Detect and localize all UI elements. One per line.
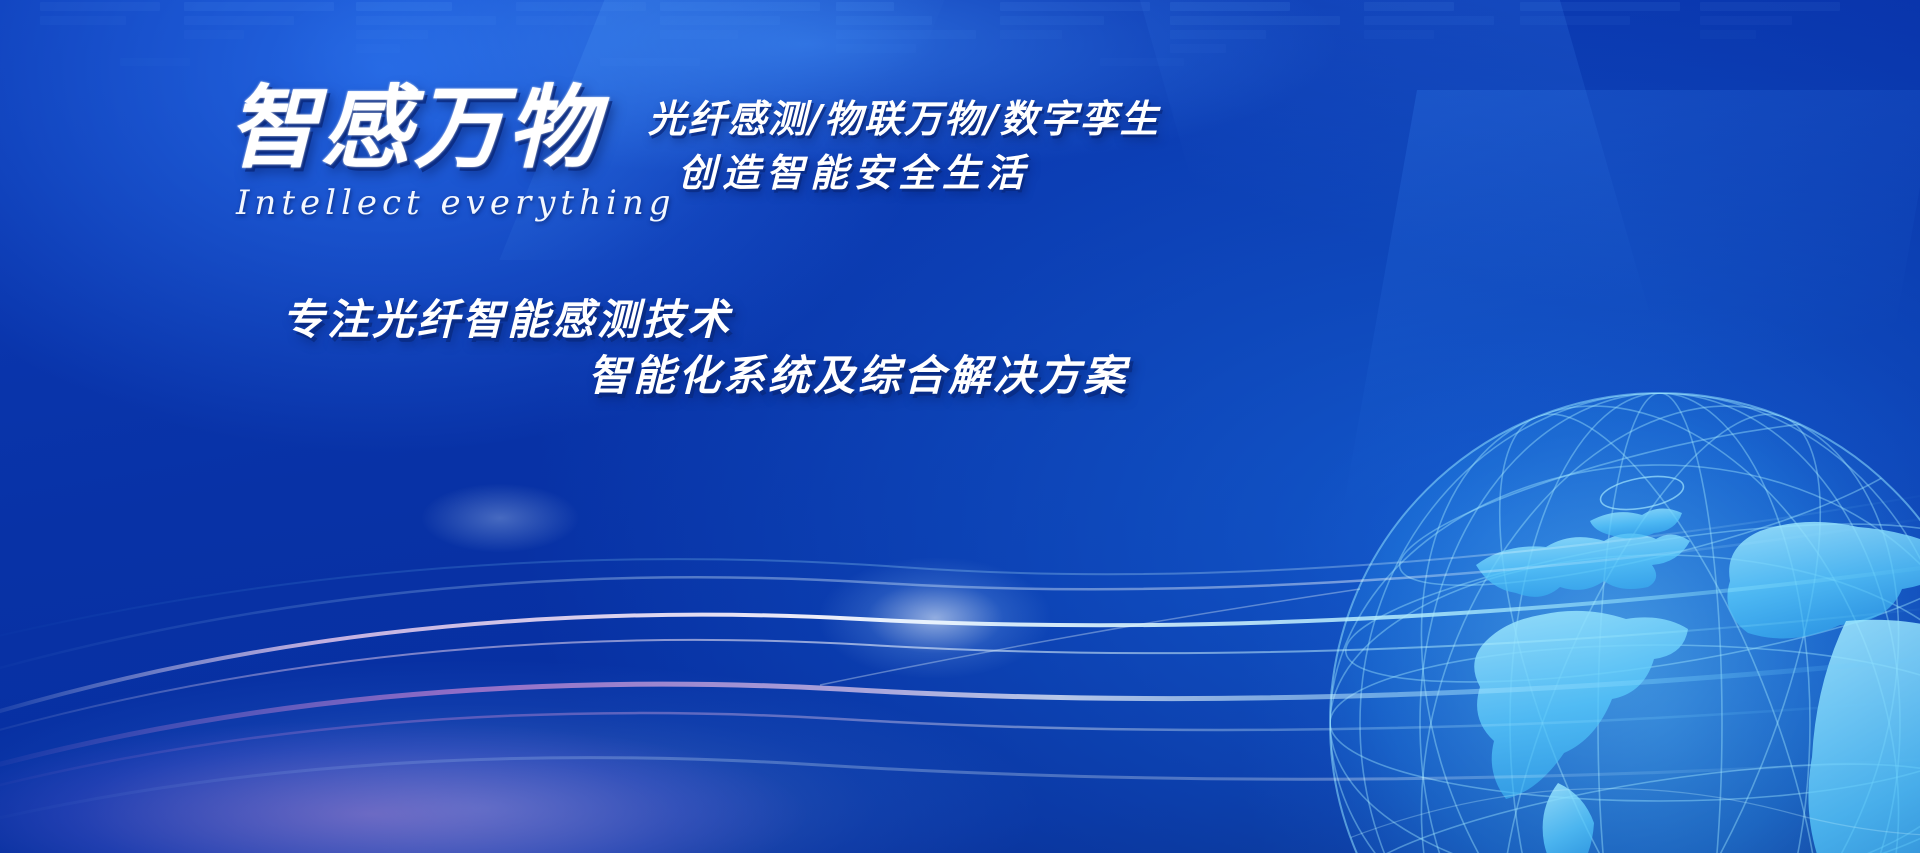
slogan-line-2: 创造智能安全生活 [678,142,1030,197]
slogan-line-1: 光纤感测/物联万物/数字孪生 [648,88,1160,143]
text-stage: 智感万物 Intellect everything 光纤感测/物联万物/数字孪生… [0,0,1920,853]
hero-banner: 智感万物 Intellect everything 光纤感测/物联万物/数字孪生… [0,0,1920,853]
tagline-line-1: 专注光纤智能感测技术 [282,286,732,347]
page-subtitle-english: Intellect everything [236,183,676,223]
tagline-line-2: 智能化系统及综合解决方案 [588,342,1128,403]
page-title: 智感万物 [228,83,600,173]
